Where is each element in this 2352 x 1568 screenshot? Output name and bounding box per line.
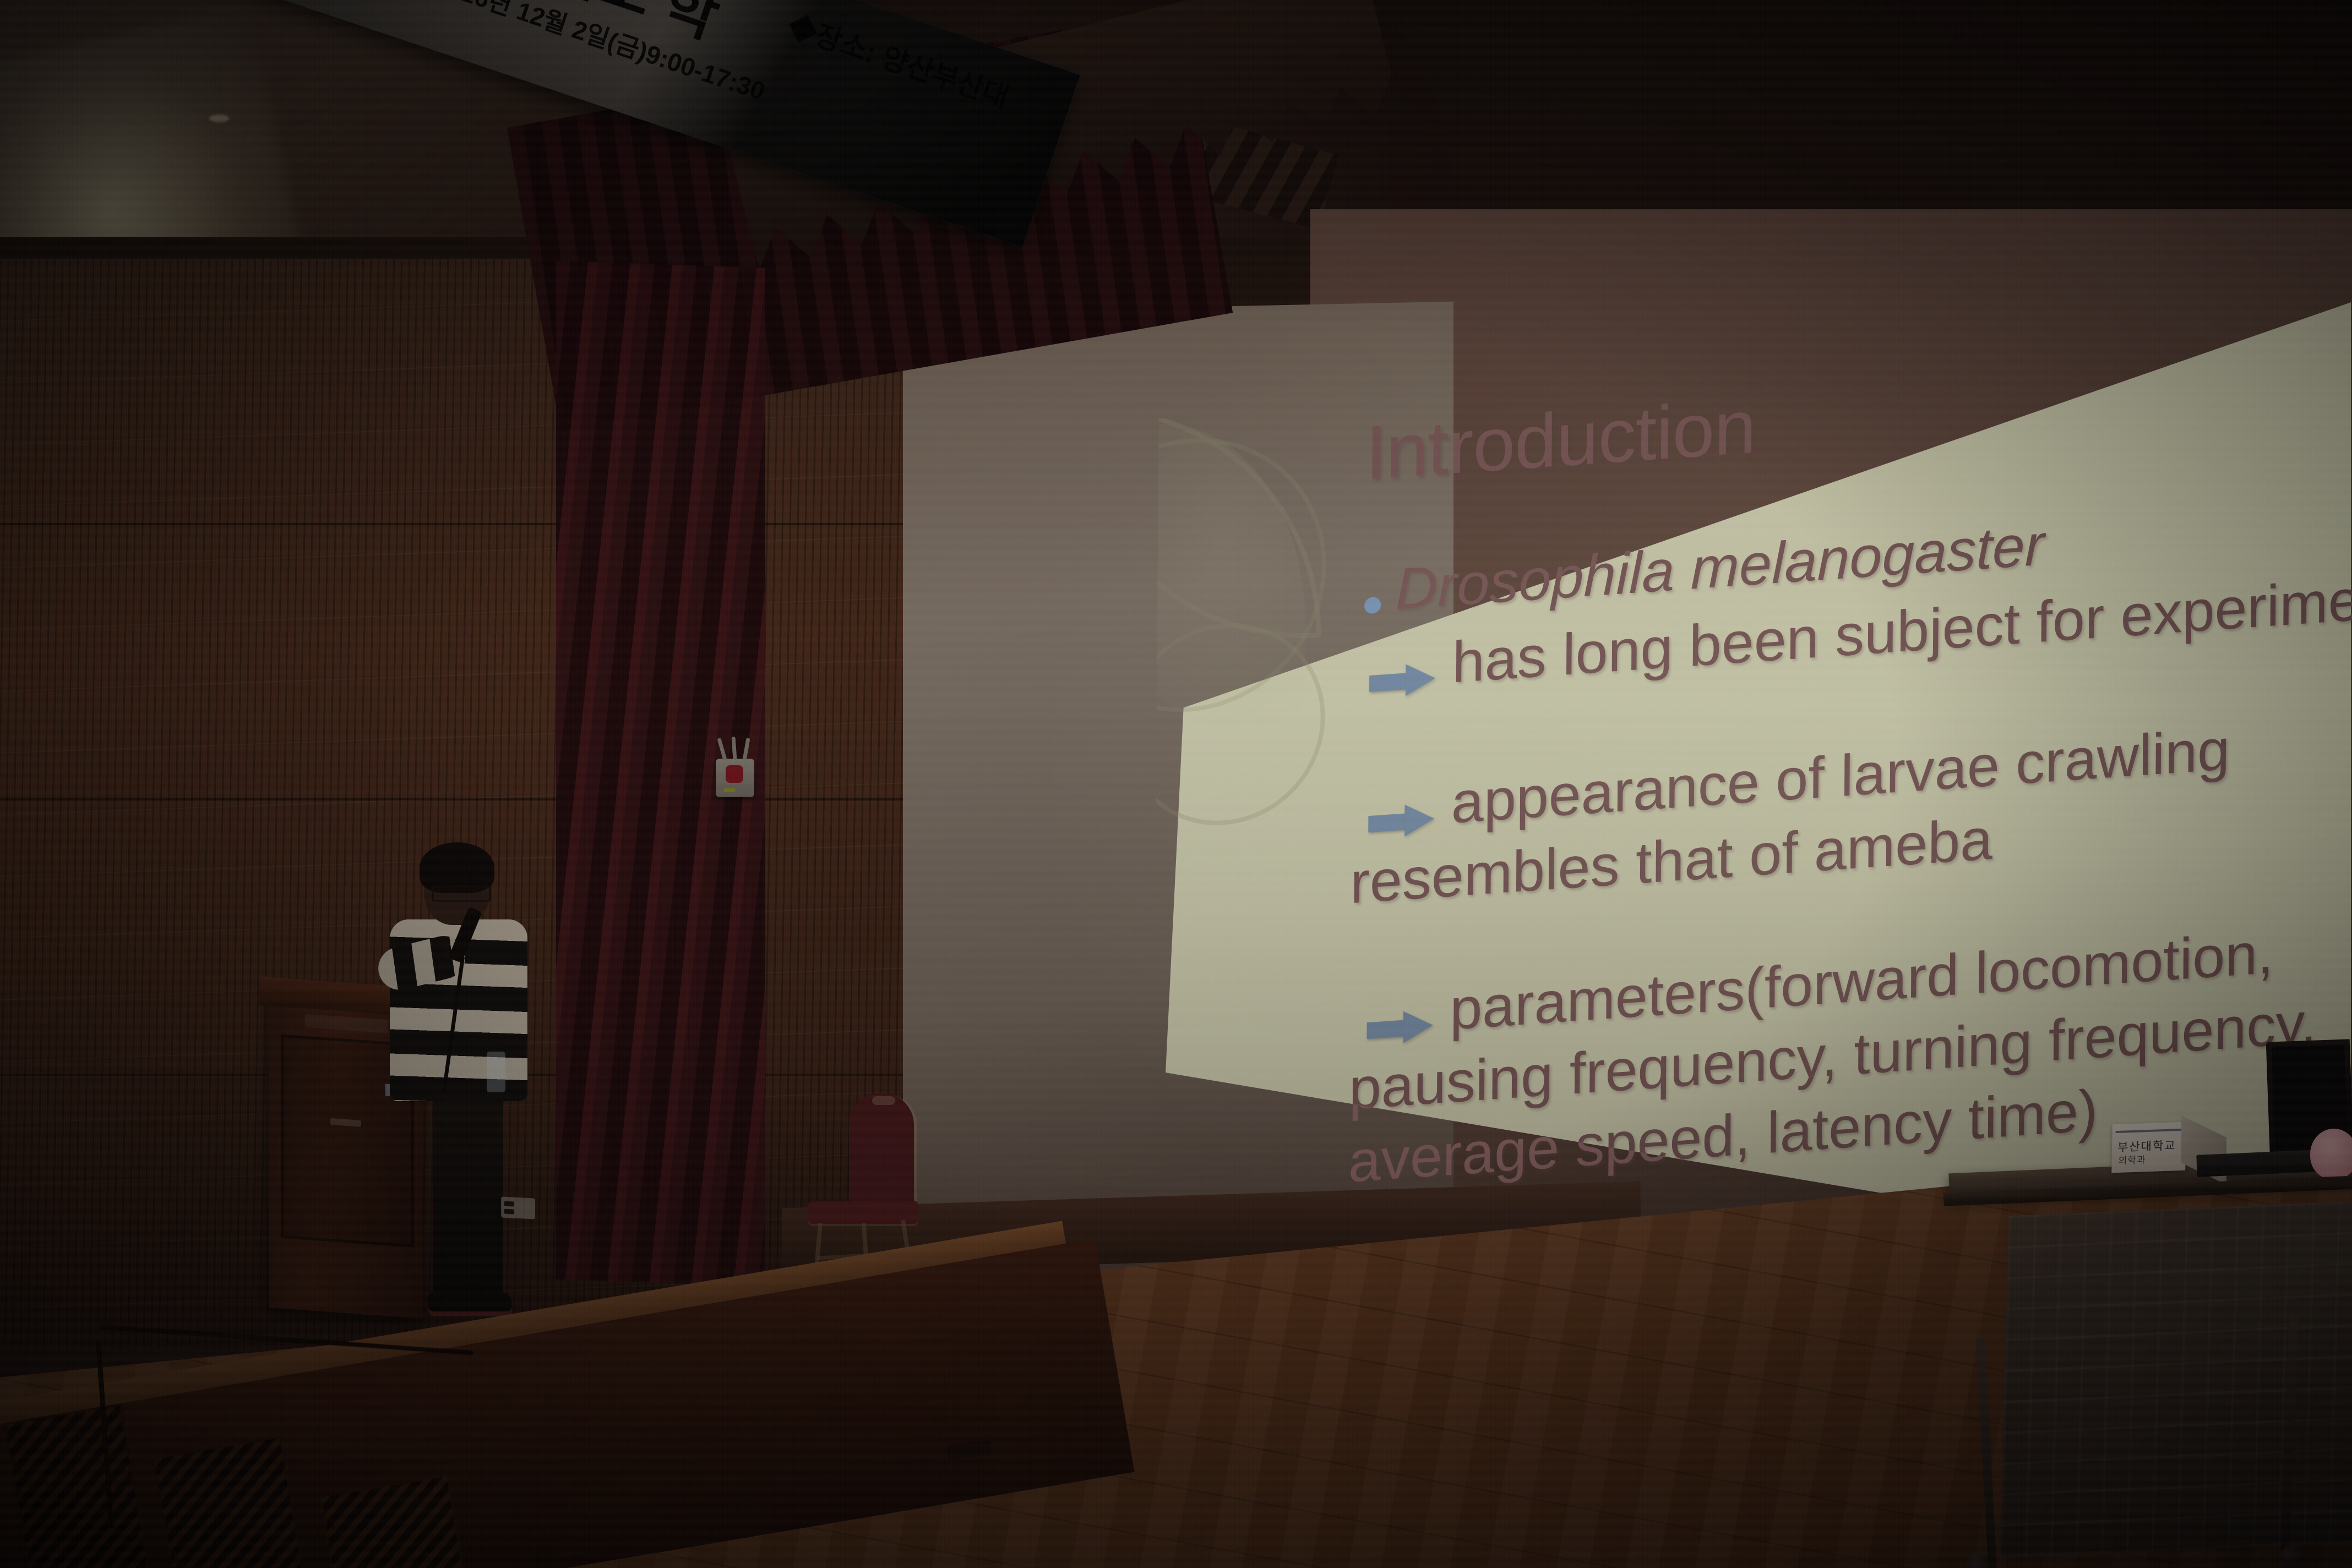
wall-outlet [501,1196,535,1219]
table-caster [2280,1545,2304,1568]
status-led [723,788,736,792]
device-logo-icon [726,765,743,783]
bullet-dot-icon [1364,596,1381,614]
water-bottle [487,1052,505,1092]
ceiling-spotlight [209,115,229,122]
glasses-icon [432,885,491,902]
wireless-access-point [716,759,754,797]
tent-card-line-2: 의학과 [2118,1152,2146,1167]
table-modesty-panel [2000,1201,2352,1558]
slide-title: Introduction [1365,383,1756,497]
photograph-scene: 2016학년도 학 ◆일시:2016년 12월 2일(금)9:00-17:30 … [0,0,2352,1568]
pink-object [2310,1129,2352,1179]
presenter [385,842,551,1327]
tent-card: 부산대학교 의학과 [2111,1122,2186,1173]
